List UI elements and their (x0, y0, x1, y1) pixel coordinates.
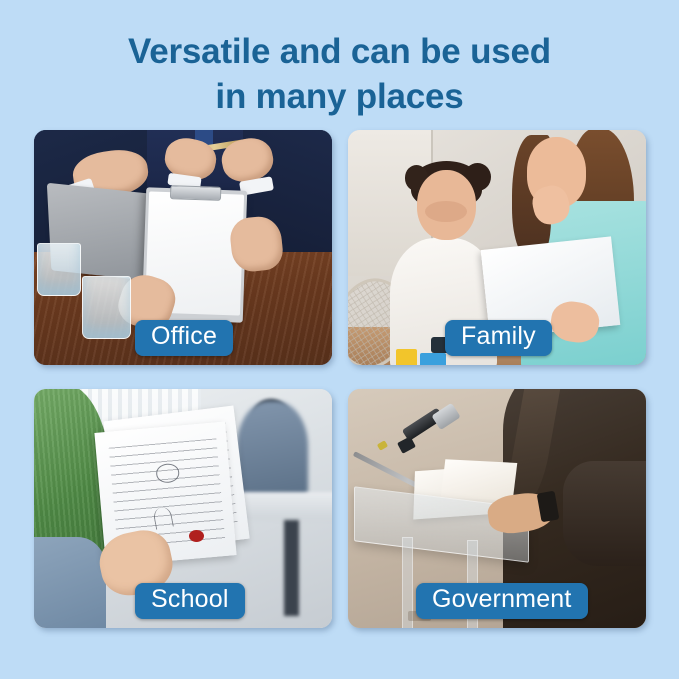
panel-school[interactable]: School (34, 389, 332, 628)
panel-office[interactable]: Office (34, 130, 332, 365)
page-title: Versatile and can be used in many places (0, 30, 679, 120)
panel-family[interactable]: Family (348, 130, 646, 365)
water-glass-icon (82, 276, 132, 339)
panel-government[interactable]: Government (348, 389, 646, 628)
panel-label-school: School (135, 583, 245, 620)
panel-label-office: Office (135, 320, 233, 357)
panel-label-government: Government (416, 583, 588, 620)
panel-label-family: Family (445, 320, 552, 357)
use-case-panel-grid: Office Family (34, 130, 646, 628)
water-glass-icon (37, 243, 81, 297)
